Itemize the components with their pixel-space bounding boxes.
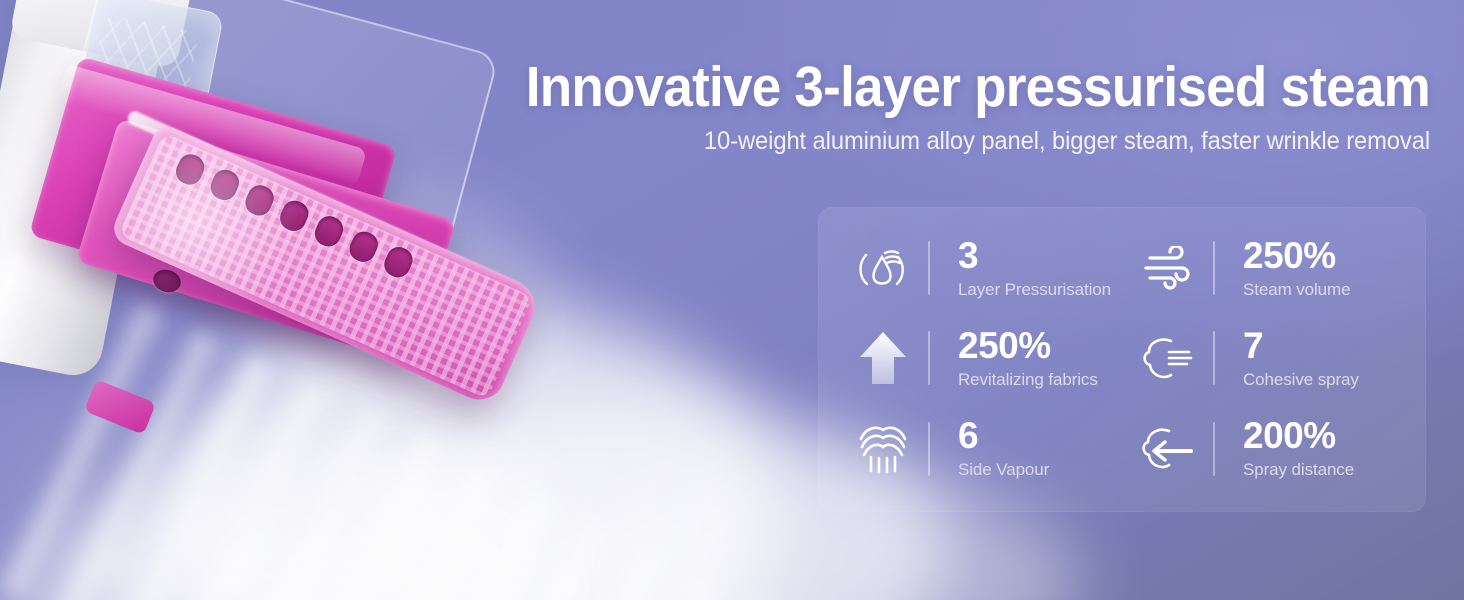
stat-item-steam-volume: 250% Steam volume [1137,223,1406,313]
steam-cloud-drip-icon [852,421,914,477]
stat-value: 200% [1243,417,1354,454]
stat-label: Revitalizing fabrics [958,369,1098,390]
stat-text: 7 Cohesive spray [1243,327,1359,390]
stat-value: 250% [1243,237,1350,274]
stat-text: 250% Revitalizing fabrics [958,327,1098,390]
stat-item-side-vapour: 6 Side Vapour [852,404,1121,494]
headline-block: Innovative 3-layer pressurised steam 10-… [440,58,1430,156]
spray-distance-arrow-icon [1137,421,1199,477]
stat-label: Steam volume [1243,279,1350,300]
up-arrow-icon [852,330,914,386]
stat-text: 6 Side Vapour [958,417,1049,480]
stat-label: Layer Pressurisation [958,279,1111,300]
nozzle-spray-icon [1137,330,1199,386]
stat-divider [1213,241,1215,295]
stat-item-cohesive-spray: 7 Cohesive spray [1137,313,1406,403]
stat-divider [928,331,930,385]
stat-text: 250% Steam volume [1243,237,1350,300]
stat-value: 250% [958,327,1098,364]
stat-value: 7 [1243,327,1359,364]
stat-label: Cohesive spray [1243,369,1359,390]
stat-value: 3 [958,237,1111,274]
page-title: Innovative 3-layer pressurised steam [509,58,1430,117]
stat-divider [928,422,930,476]
stat-label: Side Vapour [958,459,1049,480]
stat-label: Spray distance [1243,459,1354,480]
page-subtitle: 10-weight aluminium alloy panel, bigger … [490,127,1431,156]
stat-text: 200% Spray distance [1243,417,1354,480]
stat-divider [928,241,930,295]
product-feature-banner: Innovative 3-layer pressurised steam 10-… [0,0,1464,600]
steam-drop-icon [852,240,914,296]
soleplate-foot [84,379,156,434]
stat-item-revitalizing-fabrics: 250% Revitalizing fabrics [852,313,1121,403]
stat-divider [1213,331,1215,385]
stat-divider [1213,422,1215,476]
stats-panel: 3 Layer Pressurisation 250% Steam volume [818,207,1426,512]
stat-value: 6 [958,417,1049,454]
wind-icon [1137,240,1199,296]
stat-item-spray-distance: 200% Spray distance [1137,404,1406,494]
stat-item-layer-pressurisation: 3 Layer Pressurisation [852,223,1121,313]
stat-text: 3 Layer Pressurisation [958,237,1111,300]
